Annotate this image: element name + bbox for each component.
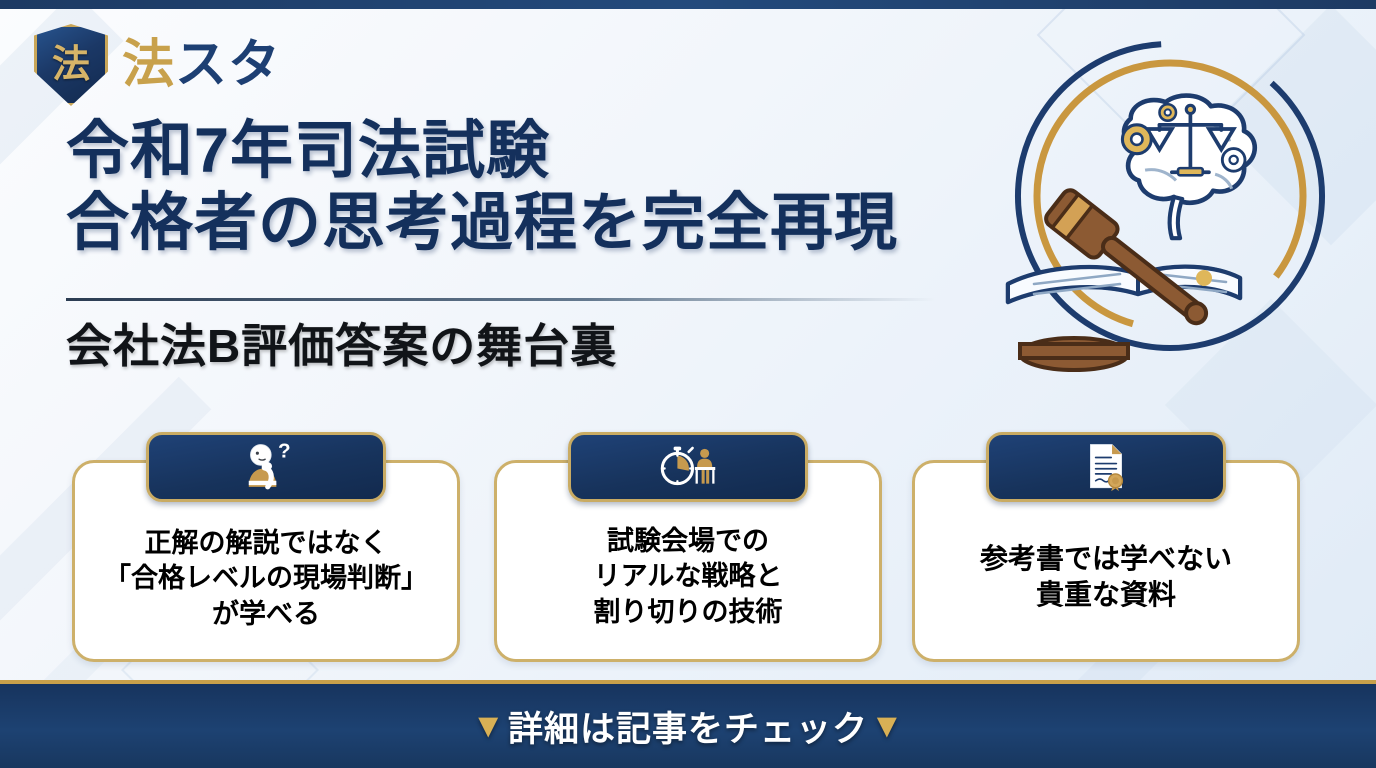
brand-name-navy: スタ (175, 36, 281, 94)
feature-card-1-line-2: 「合格レベルの現場判断」 (104, 561, 428, 596)
triangle-down-left-icon: ▼ (471, 709, 506, 743)
svg-text:?: ? (278, 442, 291, 463)
feature-card-1-text: 正解の解説ではなく 「合格レベルの現場判断」 が学べる (104, 526, 428, 631)
feature-card-2-line-2: リアルな戦略と (594, 559, 783, 594)
top-accent-bar (0, 0, 1376, 9)
title-divider (66, 298, 936, 301)
shield-badge-icon: 法 (34, 24, 108, 106)
page-subtitle: 会社法B評価答案の舞台裏 (66, 310, 617, 376)
feature-card-1-line-3: が学べる (104, 597, 428, 632)
feature-card-2[interactable]: 試験会場での リアルな戦略と 割り切りの技術 (494, 460, 882, 662)
triangle-down-right-icon: ▼ (870, 709, 905, 743)
page-title: 令和7年司法試験 合格者の思考過程を完全再現 (66, 116, 966, 260)
feature-card-2-header-tab (568, 432, 808, 502)
feature-card-1[interactable]: 正解の解説ではなく 「合格レベルの現場判断」 が学べる ? (72, 460, 460, 662)
feature-card-list: 正解の解説ではなく 「合格レベルの現場判断」 が学べる ? (0, 420, 1376, 660)
feature-card-3[interactable]: 参考書では学べない 貴重な資料 (912, 460, 1300, 662)
footer-cta: ▼ 詳細は記事をチェック ▼ (471, 701, 904, 752)
feature-card-1-header-tab: ? (146, 432, 386, 502)
poster-canvas: 法 法スタ 令和7年司法試験 合格者の思考過程を完全再現 会社法B評価答案の舞台… (0, 0, 1376, 768)
footer-cta-label: 詳細は記事をチェック (508, 701, 868, 752)
feature-card-3-line-1: 参考書では学べない (980, 541, 1232, 577)
feature-card-3-text: 参考書では学べない 貴重な資料 (980, 541, 1232, 614)
thinking-person-question-icon: ? (238, 442, 294, 492)
feature-card-3-line-2: 貴重な資料 (980, 577, 1232, 613)
brand-name-gold: 法 (122, 36, 175, 94)
feature-card-2-line-1: 試験会場での (594, 524, 783, 559)
stopwatch-exam-desk-icon (660, 442, 716, 492)
feature-card-2-line-3: 割り切りの技術 (594, 595, 783, 630)
headline-line-1: 令和7年司法試験 (66, 116, 966, 188)
certificate-seal-document-icon (1078, 442, 1134, 492)
brand-name: 法スタ (122, 39, 281, 91)
feature-card-2-text: 試験会場での リアルな戦略と 割り切りの技術 (594, 524, 783, 629)
law-brain-gavel-illustration (986, 18, 1354, 386)
footer-cta-bar[interactable]: ▼ 詳細は記事をチェック ▼ (0, 680, 1376, 768)
feature-card-3-header-tab (986, 432, 1226, 502)
brand-logo[interactable]: 法 法スタ (34, 24, 281, 106)
headline-line-2: 合格者の思考過程を完全再現 (66, 188, 966, 260)
shield-badge-char: 法 (52, 46, 90, 84)
feature-card-1-line-1: 正解の解説ではなく (104, 526, 428, 561)
